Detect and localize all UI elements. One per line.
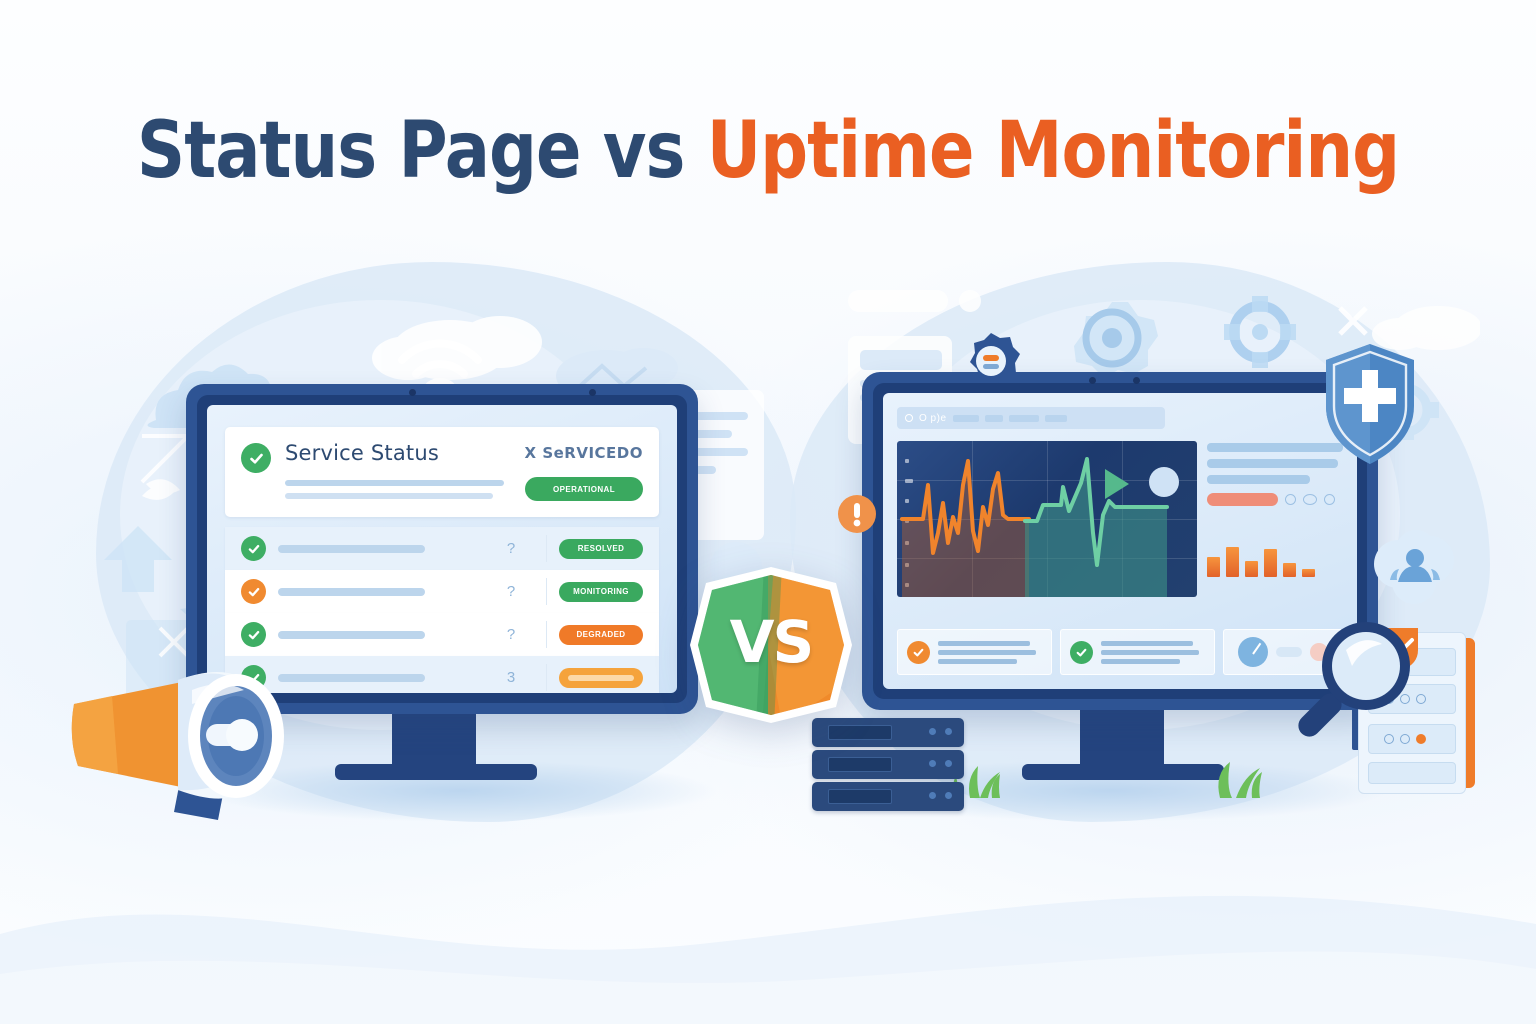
table-row[interactable]: ? MONITORING bbox=[225, 570, 659, 613]
row-status-badge[interactable]: DEGRADED bbox=[559, 625, 643, 645]
response-time-chart[interactable] bbox=[897, 441, 1197, 597]
dashboard-card[interactable] bbox=[1060, 629, 1215, 675]
row-status-badge[interactable]: RESOLVED bbox=[559, 539, 643, 559]
monitor-neck-right bbox=[1080, 706, 1164, 770]
warning-badge-icon bbox=[838, 490, 876, 538]
row-status-badge[interactable]: MONITORING bbox=[559, 582, 643, 602]
dashboard-card[interactable] bbox=[897, 629, 1052, 675]
illustration-canvas: Service Status X SeRVICEDO OPERATIONAL bbox=[0, 0, 1536, 1024]
monitor-neck-left bbox=[392, 706, 476, 770]
shield-cross-icon bbox=[1320, 340, 1420, 470]
row-count: ? bbox=[488, 540, 534, 557]
mini-bar-chart[interactable] bbox=[1207, 519, 1343, 577]
row-status-badge[interactable] bbox=[559, 668, 643, 688]
check-circle-icon bbox=[241, 579, 266, 604]
monitor-screen-right[interactable]: O p)e bbox=[883, 393, 1357, 689]
service-status-header: Service Status X SeRVICEDO OPERATIONAL bbox=[225, 427, 659, 517]
page-title: Service Status bbox=[285, 441, 439, 465]
status-badge[interactable]: OPERATIONAL bbox=[525, 477, 643, 501]
skeleton-bar bbox=[1207, 459, 1338, 468]
megaphone-icon bbox=[56, 628, 326, 828]
check-circle-icon bbox=[241, 443, 271, 473]
check-circle-icon bbox=[907, 641, 930, 664]
chart-marker-dot bbox=[1149, 467, 1179, 497]
server-stack-icon bbox=[812, 718, 972, 814]
play-triangle-icon[interactable] bbox=[1105, 469, 1129, 499]
row-count: ? bbox=[488, 583, 534, 600]
title-part-right: Uptime Monitoring bbox=[707, 106, 1399, 196]
skeleton-bar bbox=[1207, 475, 1310, 484]
title-part-vs: vs bbox=[580, 106, 706, 196]
check-circle-icon bbox=[1070, 641, 1093, 664]
magnifier-icon bbox=[1288, 608, 1424, 760]
vs-label: VS bbox=[686, 565, 856, 725]
chart-series-paths bbox=[897, 441, 1197, 597]
settings-badge-icon bbox=[960, 330, 1022, 392]
row-count: 3 bbox=[488, 669, 534, 686]
circle-icon bbox=[1303, 494, 1317, 505]
dashboard-cards bbox=[897, 629, 1343, 675]
circle-icon bbox=[1285, 494, 1296, 505]
check-circle-icon bbox=[241, 536, 266, 561]
row-count: ? bbox=[488, 626, 534, 643]
alert-bar bbox=[1207, 493, 1278, 506]
person-avatar-icon bbox=[1368, 524, 1464, 610]
table-row[interactable]: ? RESOLVED bbox=[225, 527, 659, 570]
url-text: O p)e bbox=[919, 413, 947, 424]
brand-label: X SeRVICEDO bbox=[525, 444, 643, 462]
gauge-icon bbox=[1238, 637, 1268, 667]
browser-url-bar[interactable]: O p)e bbox=[897, 407, 1165, 429]
monitor-base-left bbox=[335, 764, 537, 780]
title-part-left: Status Page bbox=[137, 106, 581, 196]
circle-icon bbox=[1324, 494, 1335, 505]
circle-icon bbox=[905, 414, 913, 422]
vs-badge: VS bbox=[686, 565, 856, 725]
page-title: Status Page vs Uptime Monitoring bbox=[108, 112, 1429, 190]
